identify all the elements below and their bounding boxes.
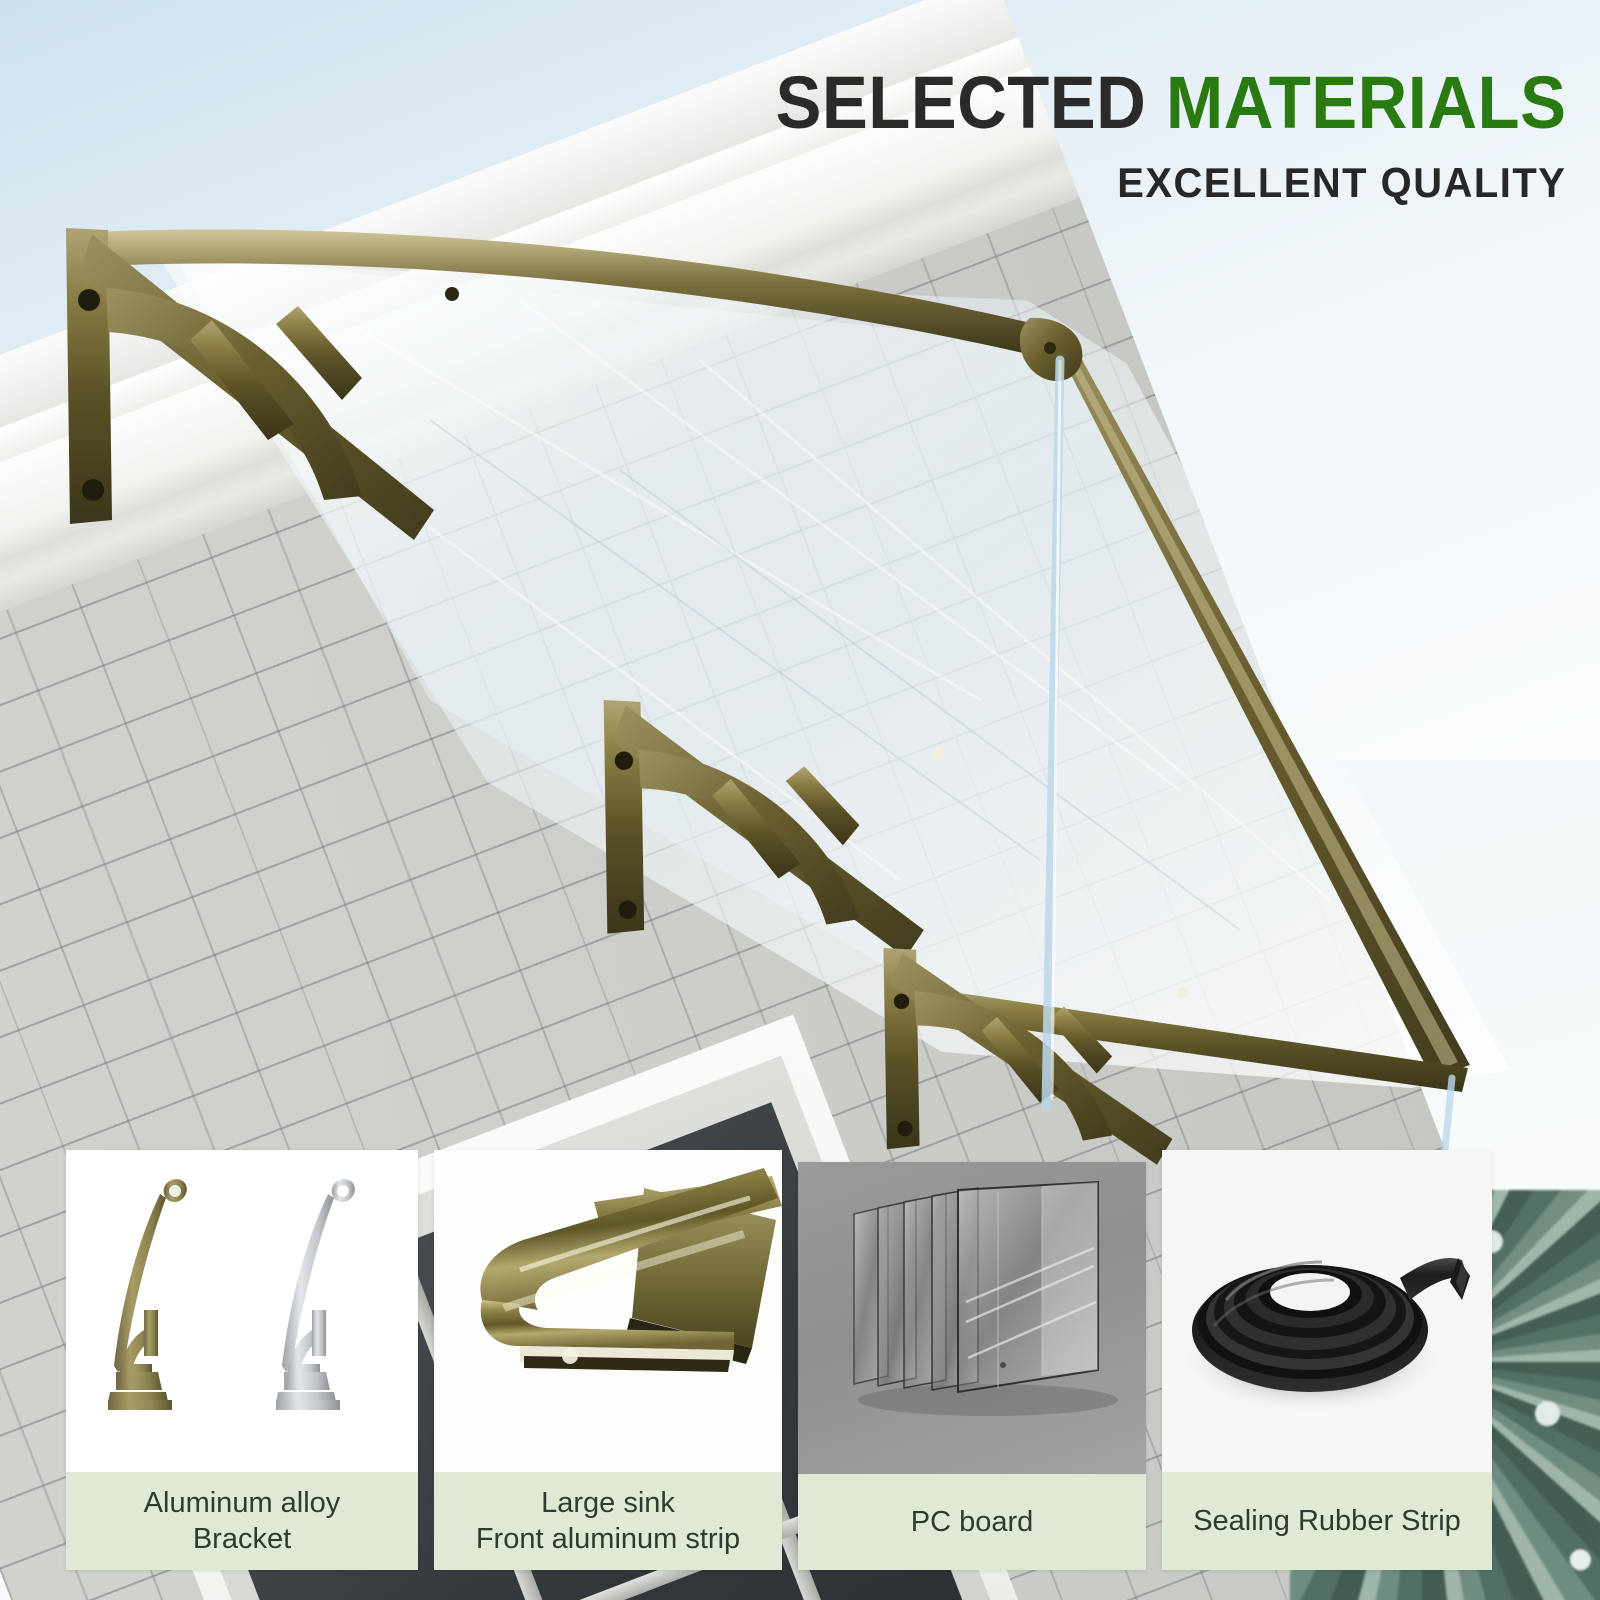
caption-line-2: Front aluminum strip: [476, 1523, 740, 1555]
card-photo-front-strip: [434, 1150, 782, 1472]
card-caption-front-strip: Large sink Front aluminum strip: [434, 1472, 782, 1570]
headline-block: SELECTED MATERIALS EXCELLENT QUALITY: [716, 66, 1566, 204]
bracket-bronze: [108, 1179, 187, 1410]
rubber-coil-illustration: [1162, 1150, 1492, 1472]
feature-card-pc-board[interactable]: PC board: [798, 1162, 1146, 1570]
feature-card-strip: Aluminum alloy Bracket: [0, 1140, 1600, 1600]
caption-text: Sealing Rubber Strip: [1193, 1503, 1461, 1539]
card-caption-rubber-strip: Sealing Rubber Strip: [1162, 1472, 1492, 1570]
card-photo-rubber-strip: [1162, 1150, 1492, 1472]
feature-card-bracket[interactable]: Aluminum alloy Bracket: [66, 1150, 418, 1570]
headline-primary: SELECTED MATERIALS: [775, 66, 1566, 140]
headline-subtitle: EXCELLENT QUALITY: [758, 162, 1566, 204]
canopy-glazing: [175, 255, 1465, 1070]
card-photo-bracket: [66, 1150, 418, 1472]
aluminum-strip-illustration: [434, 1150, 782, 1472]
connector-bolt: [1044, 342, 1056, 354]
card-caption-pc-board: PC board: [798, 1474, 1146, 1570]
product-marketing-image: SELECTED MATERIALS EXCELLENT QUALITY: [0, 0, 1600, 1600]
headline-word-materials: MATERIALS: [1165, 61, 1566, 144]
caption-line-1: Aluminum alloy: [144, 1487, 341, 1519]
pc-sheets-illustration: [798, 1162, 1146, 1474]
bracket-silver: [276, 1179, 355, 1410]
card-photo-pc-board: [798, 1162, 1146, 1474]
bracket-illustration: [66, 1150, 418, 1472]
feature-card-rubber-strip[interactable]: Sealing Rubber Strip: [1162, 1150, 1492, 1570]
caption-text: Aluminum alloy Bracket: [144, 1485, 341, 1557]
feature-card-front-strip[interactable]: Large sink Front aluminum strip: [434, 1150, 782, 1570]
headline-word-selected: SELECTED: [775, 61, 1146, 144]
caption-text: Large sink Front aluminum strip: [476, 1485, 740, 1557]
caption-line-1: Large sink: [541, 1487, 675, 1519]
caption-text: PC board: [911, 1504, 1034, 1540]
caption-line-2: Bracket: [193, 1523, 291, 1555]
card-caption-bracket: Aluminum alloy Bracket: [66, 1472, 418, 1570]
